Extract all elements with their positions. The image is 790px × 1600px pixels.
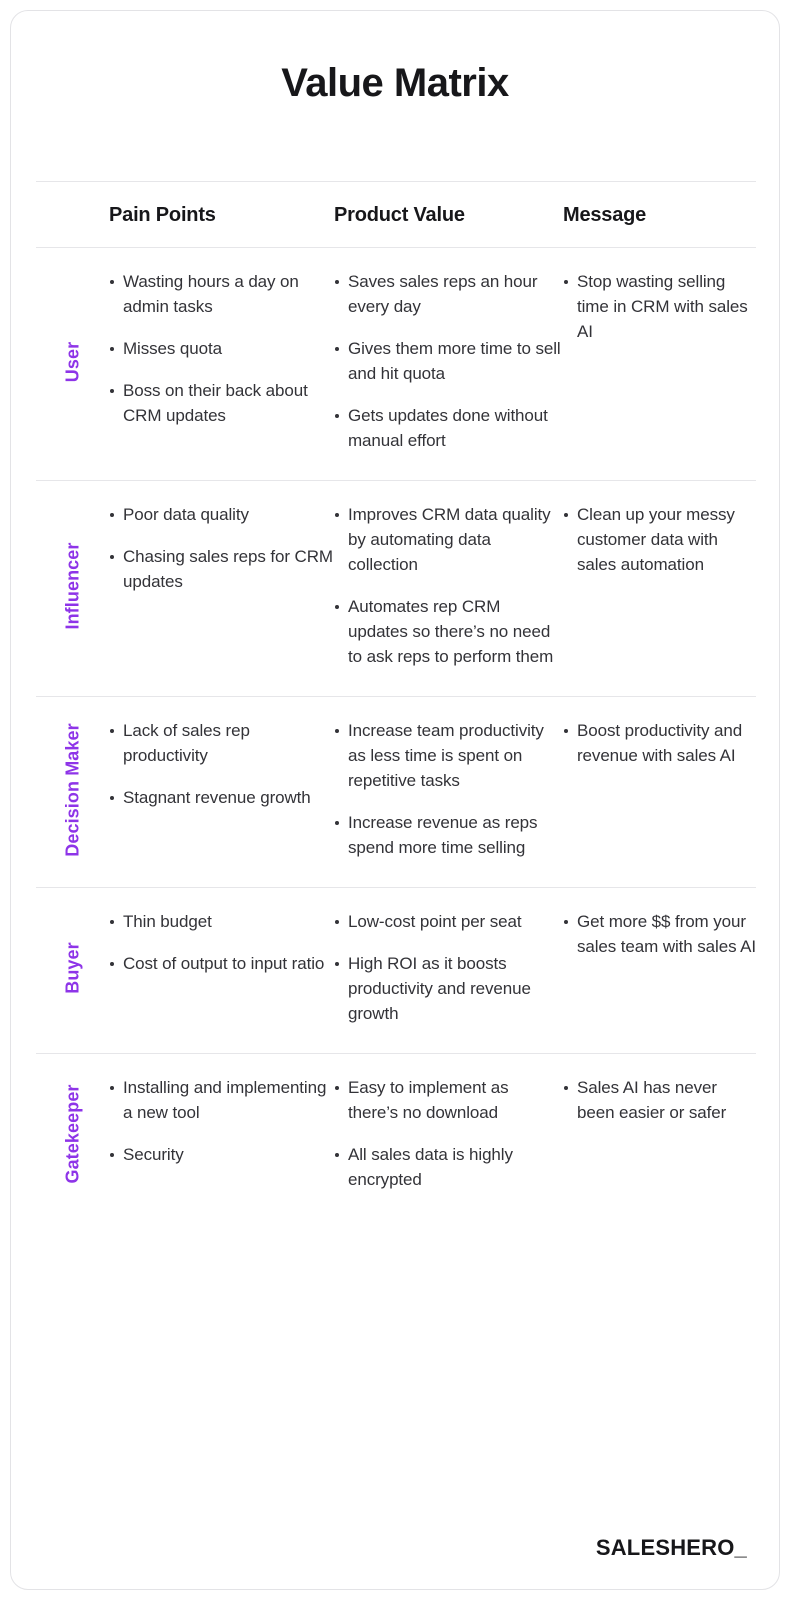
pain-points-list: Poor data quality Chasing sales reps for… [109,503,334,595]
column-header-persona [36,204,109,227]
table-row: Gatekeeper Installing and implementing a… [36,1054,756,1219]
persona-cell: Decision Maker [36,719,109,861]
value-matrix-table: Pain Points Product Value Message User W… [36,181,756,1219]
column-header-pain-points: Pain Points [109,204,334,227]
product-value-list: Saves sales reps an hour every day Gives… [334,270,563,454]
persona-label-influencer: Influencer [62,543,83,630]
persona-cell: User [36,270,109,454]
list-item: Boss on their back about CRM updates [109,379,334,429]
product-value-list: Increase team productivity as less time … [334,719,563,861]
persona-label-buyer: Buyer [62,942,83,994]
list-item: Low-cost point per seat [334,910,563,935]
list-item: All sales data is highly encrypted [334,1143,563,1193]
message-list: Sales AI has never been easier or safer [563,1076,756,1126]
product-value-cell: Easy to implement as there’s no download… [334,1076,563,1193]
message-list: Clean up your messy customer data with s… [563,503,756,578]
persona-cell: Buyer [36,910,109,1027]
product-value-cell: Saves sales reps an hour every day Gives… [334,270,563,454]
message-cell: Stop wasting selling time in CRM with sa… [563,270,756,454]
message-list: Get more $$ from your sales team with sa… [563,910,756,960]
pain-points-cell: Installing and implementing a new tool S… [109,1076,334,1193]
table-header-row: Pain Points Product Value Message [36,182,756,247]
message-list: Boost productivity and revenue with sale… [563,719,756,769]
list-item: Sales AI has never been easier or safer [563,1076,756,1126]
list-item: Thin budget [109,910,334,935]
column-header-product-value: Product Value [334,204,563,227]
message-cell: Get more $$ from your sales team with sa… [563,910,756,1027]
list-item: Chasing sales reps for CRM updates [109,545,334,595]
message-list: Stop wasting selling time in CRM with sa… [563,270,756,345]
persona-label-user: User [62,342,83,382]
persona-cell: Influencer [36,503,109,670]
product-value-cell: Increase team productivity as less time … [334,719,563,861]
persona-cell: Gatekeeper [36,1076,109,1193]
message-cell: Sales AI has never been easier or safer [563,1076,756,1193]
product-value-cell: Low-cost point per seat High ROI as it b… [334,910,563,1027]
list-item: Poor data quality [109,503,334,528]
list-item: Misses quota [109,337,334,362]
table-row: Buyer Thin budget Cost of output to inpu… [36,888,756,1053]
list-item: Gets updates done without manual effort [334,404,563,454]
table-row: Decision Maker Lack of sales rep product… [36,697,756,887]
list-item: High ROI as it boosts productivity and r… [334,952,563,1027]
list-item: Get more $$ from your sales team with sa… [563,910,756,960]
list-item: Easy to implement as there’s no download [334,1076,563,1126]
message-cell: Clean up your messy customer data with s… [563,503,756,670]
saleshero-logo: SALESHERO_ [596,1535,747,1561]
list-item: Saves sales reps an hour every day [334,270,563,320]
list-item: Automates rep CRM updates so there’s no … [334,595,563,670]
message-cell: Boost productivity and revenue with sale… [563,719,756,861]
list-item: Lack of sales rep productivity [109,719,334,769]
table-row: User Wasting hours a day on admin tasks … [36,248,756,480]
list-item: Increase team productivity as less time … [334,719,563,794]
pain-points-cell: Lack of sales rep productivity Stagnant … [109,719,334,861]
pain-points-cell: Poor data quality Chasing sales reps for… [109,503,334,670]
product-value-list: Low-cost point per seat High ROI as it b… [334,910,563,1027]
pain-points-cell: Thin budget Cost of output to input rati… [109,910,334,1027]
list-item: Boost productivity and revenue with sale… [563,719,756,769]
list-item: Security [109,1143,334,1168]
pain-points-list: Thin budget Cost of output to input rati… [109,910,334,977]
list-item: Installing and implementing a new tool [109,1076,334,1126]
column-header-message: Message [563,204,756,227]
list-item: Improves CRM data quality by automating … [334,503,563,578]
persona-label-decision-maker: Decision Maker [62,723,83,856]
persona-label-gatekeeper: Gatekeeper [62,1085,83,1184]
list-item: Wasting hours a day on admin tasks [109,270,334,320]
list-item: Stop wasting selling time in CRM with sa… [563,270,756,345]
product-value-list: Easy to implement as there’s no download… [334,1076,563,1193]
pain-points-cell: Wasting hours a day on admin tasks Misse… [109,270,334,454]
pain-points-list: Wasting hours a day on admin tasks Misse… [109,270,334,429]
product-value-cell: Improves CRM data quality by automating … [334,503,563,670]
table-row: Influencer Poor data quality Chasing sal… [36,481,756,696]
page-title: Value Matrix [11,11,779,106]
list-item: Gives them more time to sell and hit quo… [334,337,563,387]
list-item: Clean up your messy customer data with s… [563,503,756,578]
pain-points-list: Lack of sales rep productivity Stagnant … [109,719,334,811]
list-item: Cost of output to input ratio [109,952,334,977]
list-item: Stagnant revenue growth [109,786,334,811]
value-matrix-card: Value Matrix Pain Points Product Value M… [10,10,780,1590]
list-item: Increase revenue as reps spend more time… [334,811,563,861]
product-value-list: Improves CRM data quality by automating … [334,503,563,670]
pain-points-list: Installing and implementing a new tool S… [109,1076,334,1168]
